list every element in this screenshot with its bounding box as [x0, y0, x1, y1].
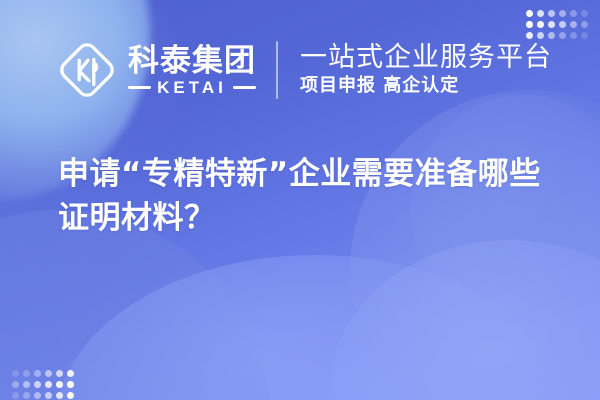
- decorative-dot: [45, 381, 52, 388]
- decorative-dot: [12, 381, 19, 388]
- company-name-en: KETAI: [157, 79, 227, 96]
- tagline-secondary: 项目申报 高企认定: [300, 76, 552, 96]
- decorative-dot: [56, 381, 63, 388]
- decorative-dot: [45, 370, 52, 377]
- promo-banner: 科泰集团 KETAI 一站式企业服务平台 项目申报 高企认定 申请“专精特新”企…: [0, 0, 600, 400]
- dot-column: [56, 381, 63, 388]
- decorative-dot: [56, 392, 63, 399]
- brand-logo-wordmark: 科泰集团 KETAI: [128, 45, 256, 96]
- decorative-dot: [23, 392, 30, 399]
- brand-logo[interactable]: 科泰集团 KETAI: [56, 39, 256, 101]
- dot-column: [56, 370, 63, 377]
- dot-column: [45, 370, 52, 377]
- dot-column: [12, 370, 19, 377]
- logo-dash-right: [233, 86, 256, 89]
- tagline-primary: 一站式企业服务平台: [300, 44, 552, 72]
- logo-dash-left: [128, 86, 151, 89]
- dot-column: [34, 370, 41, 377]
- vertical-divider: [276, 41, 278, 99]
- tagline-block: 一站式企业服务平台 项目申报 高企认定: [300, 44, 552, 96]
- page-title: 申请“专精特新”企业需要准备哪些证明材料？: [58, 152, 558, 240]
- decorative-dot: [34, 392, 41, 399]
- dot-column: [23, 370, 30, 377]
- dot-column: [67, 370, 74, 377]
- dot-column: [23, 381, 30, 388]
- decorative-dot: [45, 392, 52, 399]
- decorative-dot: [12, 392, 19, 399]
- company-name-cn: 科泰集团: [128, 45, 256, 76]
- decorative-dot: [67, 370, 74, 377]
- banner-header: 科泰集团 KETAI 一站式企业服务平台 项目申报 高企认定: [0, 0, 600, 140]
- kp-diamond-monogram-icon: [56, 39, 118, 101]
- company-name-en-row: KETAI: [128, 79, 256, 96]
- decorative-dot: [34, 381, 41, 388]
- decorative-dot: [67, 392, 74, 399]
- decorative-dot: [67, 381, 74, 388]
- dot-column: [34, 381, 41, 388]
- decorative-dot: [34, 370, 41, 377]
- decorative-dot: [56, 370, 63, 377]
- decorative-dot: [23, 381, 30, 388]
- dot-column: [12, 381, 19, 388]
- decorative-dot: [23, 370, 30, 377]
- decorative-dot: [12, 370, 19, 377]
- dot-grid-bottom-left: [12, 370, 74, 388]
- dot-column: [45, 381, 52, 388]
